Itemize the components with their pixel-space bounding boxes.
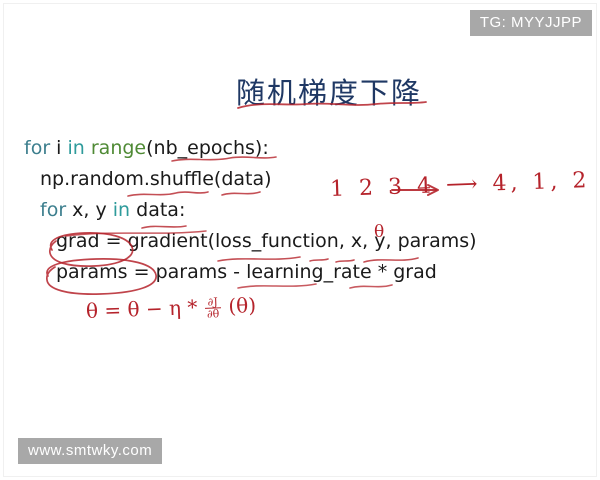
code-line-5: params = params - learning_rate * grad — [24, 257, 477, 288]
theta-annotation-mark: θ — [374, 222, 384, 242]
code-token-data: data: — [136, 199, 185, 221]
formula-rhs-theta: θ — [127, 297, 140, 321]
code-line-1: for i in range(nb_epochs): — [24, 133, 477, 164]
code-line-4: grad = gradient(loss_function, x, y, par… — [24, 226, 477, 257]
code-block: for i in range(nb_epochs): np.random.shu… — [24, 133, 477, 288]
code-token-keyword-for-2: for — [40, 199, 72, 221]
slide-canvas: TG: MYYJJPP www.smtwky.com 随机梯度下降 for i … — [0, 0, 600, 480]
telegram-watermark-badge: TG: MYYJJPP — [470, 10, 592, 36]
code-token-vars-x-y: x, y — [72, 199, 113, 221]
formula-eta: η — [169, 296, 182, 320]
update-rule-annotation: θ = θ − η * ∂J ∂θ (θ) — [86, 293, 257, 324]
code-token-params-update: params = params - learning_rate * grad — [56, 261, 437, 283]
code-token-var-i: i — [56, 137, 67, 159]
formula-minus: − — [146, 296, 164, 321]
code-token-grad-assignment: grad = gradient(loss_function, x, y, par… — [56, 230, 477, 252]
formula-partial-derivative: ∂J ∂θ — [204, 296, 221, 320]
page-title: 随机梯度下降 — [236, 70, 422, 112]
code-token-keyword-in-2: in — [113, 199, 136, 221]
code-token-function-range: range — [91, 137, 146, 159]
formula-star: * — [187, 295, 198, 319]
formula-argument: (θ) — [228, 293, 256, 318]
formula-equals: = — [104, 298, 122, 323]
code-line-3: for x, y in data: — [24, 195, 477, 226]
code-token-shuffle-call: np.random.shuffle(data) — [40, 168, 272, 190]
code-token-keyword-for: for — [24, 137, 56, 159]
formula-denominator: ∂θ — [205, 308, 222, 320]
code-token-args-nb-epochs: (nb_epochs): — [146, 137, 269, 159]
code-token-keyword-in: in — [68, 137, 91, 159]
formula-lhs-theta: θ — [86, 299, 99, 323]
site-watermark-badge: www.smtwky.com — [18, 438, 162, 464]
